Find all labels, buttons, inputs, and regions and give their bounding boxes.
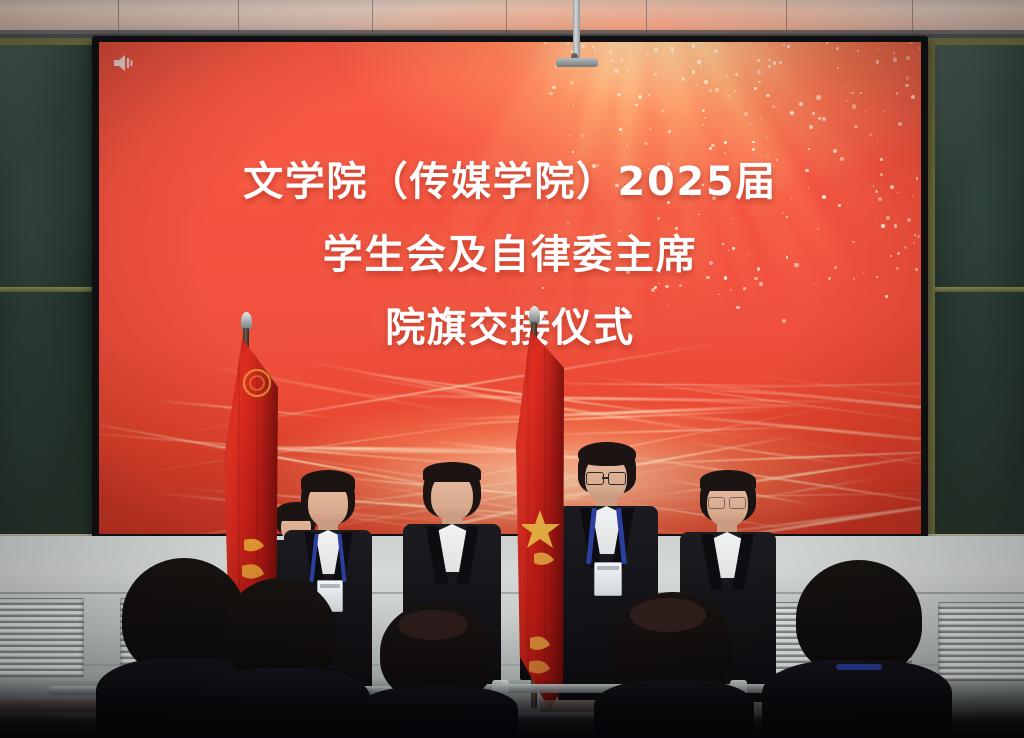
badge-line [597,566,619,570]
star-emblem [522,506,562,572]
ceiling-panel-seam [118,0,119,34]
glasses-lens-right [729,497,746,509]
hair-fringe [700,470,756,491]
glasses-bridge [602,477,608,479]
hair-fringe [301,470,355,492]
ceiling-panel-seam [912,0,913,34]
ceiling-panel-seam [372,0,373,34]
led-backdrop-screen: 文学院（传媒学院）2025届 学生会及自律委主席 院旗交接仪式 [99,42,921,534]
foreground-shadow [0,678,1024,738]
youth-league-flag-right [516,330,564,710]
glasses-lens-left [586,472,604,485]
ceiling-panel-seam [506,0,507,34]
hair-bun [630,598,706,632]
lanyard [836,664,882,670]
glasses-lens-left [708,497,725,509]
hair-fringe [578,442,636,466]
ceiling-edge-rail [0,30,1024,34]
screen-vignette [99,42,921,534]
projector-head [556,58,598,67]
blackboard-surface [0,45,94,543]
ceiling-panel-seam [238,0,239,34]
id-badge [594,562,622,596]
ceiling-panel-seam [646,0,647,34]
blackboard-left [0,38,101,550]
wall-radiator-vent [0,598,84,678]
photo-canvas: 文学院（传媒学院）2025届 学生会及自律委主席 院旗交接仪式 [0,0,1024,738]
head-back [796,560,922,676]
glasses-lens-right [608,472,626,485]
blackboard-surface [935,45,1024,543]
ceiling-red-light-spill [0,0,1024,34]
blackboard-divider [0,287,94,292]
hair-fringe [423,462,481,482]
hair-bun [398,610,468,640]
ceiling-panel-seam [786,0,787,34]
blackboard-right [928,38,1024,550]
blackboard-divider [935,287,1024,292]
